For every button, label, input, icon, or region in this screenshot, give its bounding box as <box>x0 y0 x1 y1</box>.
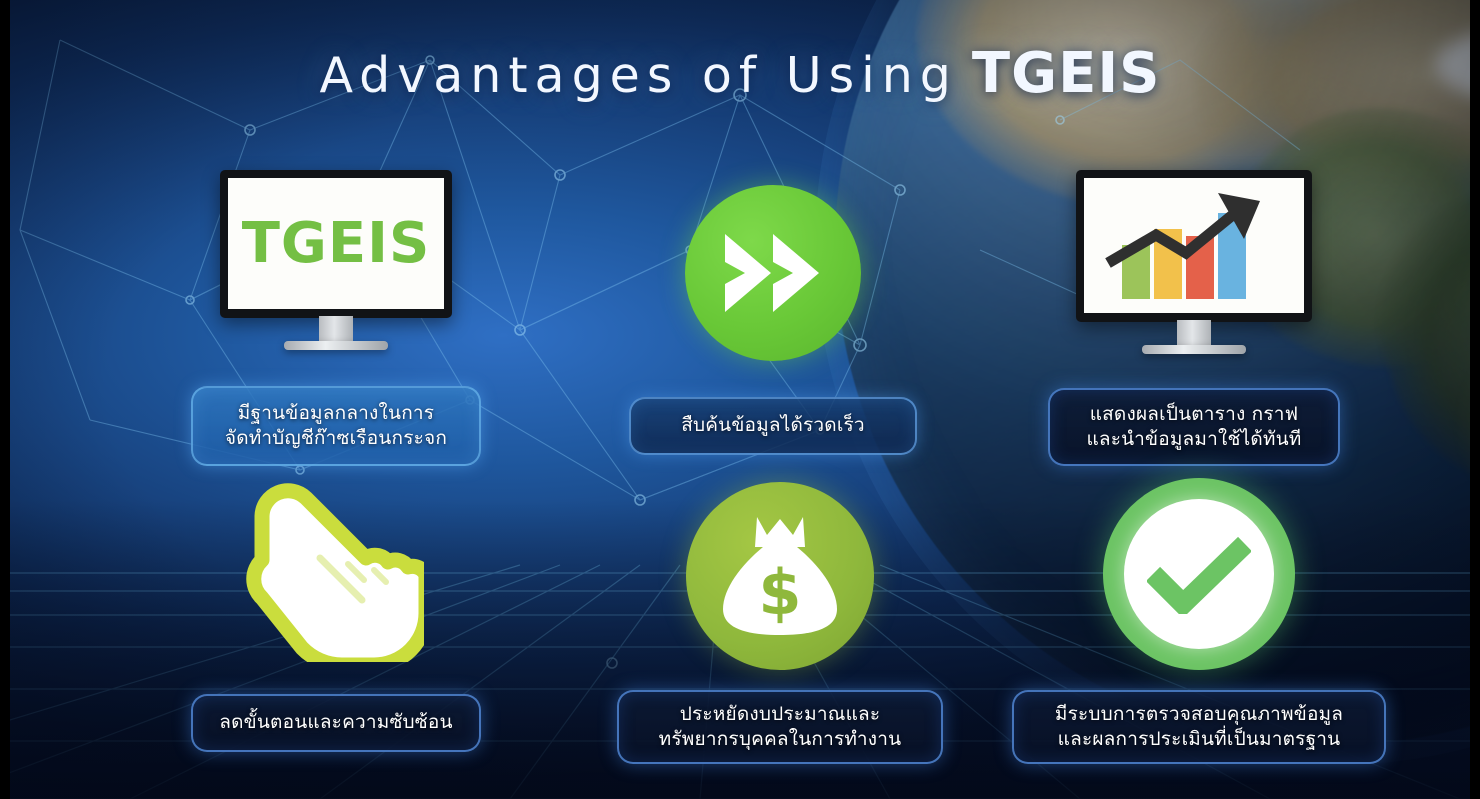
card-label-report-graph: แสดงผลเป็นตาราง กราฟ และนำข้อมูลมาใช้ได้… <box>1048 388 1340 466</box>
card-save-budget: $ ประหยัดงบประมาณและ ทรัพยากรบุคคลในการท… <box>615 482 945 764</box>
slide-stage: Advantages of UsingTGEIS TGEIS มีฐานข้อม… <box>0 0 1480 799</box>
svg-text:$: $ <box>758 556 801 629</box>
monitor-base <box>1142 345 1246 354</box>
monitor-neck <box>319 316 353 344</box>
card-fast-search: สืบค้นข้อมูลได้รวดเร็ว <box>628 185 918 460</box>
pointing-hand-icon-wrap <box>224 472 424 662</box>
card-label-quality-check: มีระบบการตรวจสอบคุณภาพข้อมูล และผลการประ… <box>1012 690 1386 764</box>
check-circle-inner <box>1124 499 1274 649</box>
money-bag-icon: $ <box>686 482 874 670</box>
title-prefix: Advantages of Using <box>319 47 957 104</box>
money-bag-glyph: $ <box>719 513 841 639</box>
page-title: Advantages of UsingTGEIS <box>0 46 1480 102</box>
monitor-tgeis-icon: TGEIS <box>220 170 452 318</box>
card-label-reduce-steps: ลดขั้นตอนและความซับซ้อน <box>191 694 481 752</box>
card-reduce-steps: ลดขั้นตอนและความซับซ้อน <box>190 472 482 762</box>
fast-forward-icon-wrap <box>685 185 861 361</box>
letterbox-right-bar <box>1470 0 1480 799</box>
card-label-save-budget: ประหยัดงบประมาณและ ทรัพยากรบุคคลในการทำง… <box>617 690 943 764</box>
double-chevron-glyph <box>719 228 827 318</box>
monitor-screen-label: TGEIS <box>242 211 431 276</box>
card-report-graph: แสดงผลเป็นตาราง กราฟ และนำข้อมูลมาใช้ได้… <box>1048 170 1340 470</box>
bar-chart-glyph <box>1094 187 1294 305</box>
monitor-neck <box>1177 320 1211 348</box>
fast-forward-icon <box>685 185 861 361</box>
chart-screen <box>1084 178 1304 313</box>
check-circle-icon-wrap <box>1103 478 1295 670</box>
checkmark-glyph <box>1147 534 1251 614</box>
letterbox-left-bar <box>0 0 10 799</box>
title-brand: TGEIS <box>972 41 1161 106</box>
card-quality-check: มีระบบการตรวจสอบคุณภาพข้อมูล และผลการประ… <box>1010 478 1388 764</box>
card-central-database: TGEIS มีฐานข้อมูลกลางในการ จัดทำบัญชีก๊า… <box>190 170 482 470</box>
pointing-hand-icon <box>224 472 424 662</box>
card-label-fast-search: สืบค้นข้อมูลได้รวดเร็ว <box>629 397 917 455</box>
check-circle-icon <box>1103 478 1295 670</box>
monitor-chart-icon <box>1076 170 1312 322</box>
money-bag-icon-wrap: $ <box>686 482 874 670</box>
monitor-base <box>284 341 388 350</box>
card-label-central-database: มีฐานข้อมูลกลางในการ จัดทำบัญชีก๊าซเรือน… <box>191 386 481 466</box>
